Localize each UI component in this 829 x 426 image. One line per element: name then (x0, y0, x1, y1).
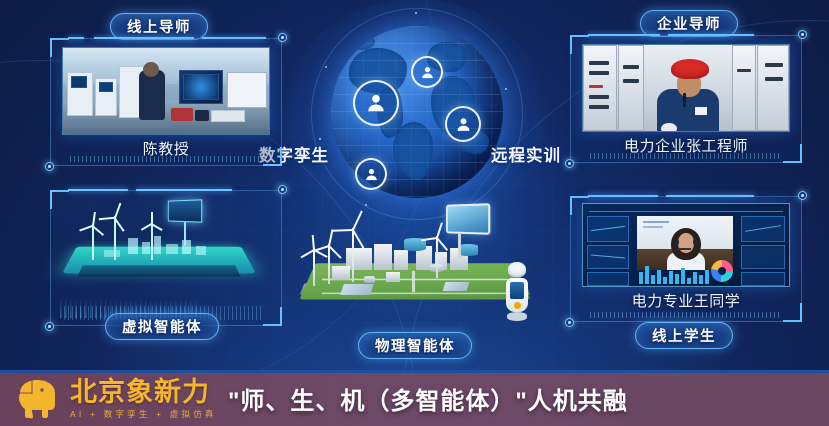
badge-physical-agent[interactable]: 物理智能体 (358, 332, 472, 359)
brand-text: 北京象新力 AI + 数字孪生 + 虚拟仿真 (70, 378, 217, 420)
frame-node-dot (278, 185, 287, 194)
frame-tick-mid (666, 195, 754, 197)
model-wind-turbine (340, 216, 366, 282)
model-building (386, 272, 400, 282)
donut-chart (711, 260, 733, 282)
badge-virtual-agent[interactable]: 虚拟智能体 (105, 313, 219, 340)
frame-tick-left (68, 189, 128, 191)
frame-tick-left (68, 37, 84, 39)
photo-switchgear-engineer (582, 44, 790, 132)
caption-professor-chen: 陈教授 (50, 138, 282, 159)
frame-tick-mid (668, 34, 754, 36)
caption-engineer-zhang: 电力企业张工程师 (570, 135, 802, 156)
elephant-icon (14, 377, 66, 421)
hologram-unit (166, 244, 178, 254)
globe-avatar-1[interactable] (353, 80, 399, 126)
badge-online-student[interactable]: 线上学生 (635, 322, 733, 349)
globe-avatar-4[interactable] (355, 158, 387, 190)
frame-node-dot (798, 30, 807, 39)
hologram-unit (128, 238, 138, 254)
badge-enterprise-mentor[interactable]: 企业导师 (640, 10, 738, 37)
person-icon (364, 167, 379, 182)
frame-node-dot (565, 159, 574, 168)
model-building (394, 250, 408, 270)
frame-tick-left (588, 34, 660, 36)
model-wind-turbine (426, 226, 448, 278)
badge-online-mentor[interactable]: 线上导师 (110, 13, 208, 40)
person-icon (420, 65, 435, 80)
hologram-turbine (84, 216, 102, 260)
hologram-unit (196, 246, 206, 255)
label-remote-training: 远程实训 (491, 142, 561, 166)
hologram-unit (154, 236, 161, 254)
card-virtual-agent[interactable] (50, 190, 282, 326)
person-icon (365, 92, 387, 114)
model-road (412, 271, 415, 292)
frame-node-dot (798, 191, 807, 200)
brand-name: 北京象新力 (70, 378, 217, 406)
frame-node-dot (565, 318, 574, 327)
model-solar-panel (443, 282, 470, 291)
physical-agent-model (292, 200, 552, 340)
frame-tick-left (588, 195, 658, 197)
card-online-mentor[interactable]: 陈教授 (50, 38, 282, 166)
footer-banner: 北京象新力 AI + 数字孪生 + 虚拟仿真 "师、生、机（多智能体）"人机共融 (0, 370, 829, 426)
hologram-screen-pole (184, 218, 186, 246)
globe-avatar-2[interactable] (411, 56, 443, 88)
hologram-unit (142, 242, 150, 254)
frame-node-dot (45, 162, 54, 171)
person-icon (455, 116, 472, 133)
service-robot (504, 262, 530, 326)
frame-tick-right (202, 37, 266, 39)
caption-student-wang: 电力专业王同学 (570, 290, 802, 311)
model-tank (458, 244, 478, 256)
footer-slogan: "师、生、机（多智能体）"人机共融 (228, 370, 628, 426)
scene-stage: 数字孪生 远程实训 线上导师 (0, 0, 829, 426)
model-wind-turbine (304, 238, 324, 286)
model-building (374, 244, 392, 270)
photo-lab-professor (62, 47, 270, 135)
digital-twin-globe (305, 18, 525, 218)
hologram-unit (104, 250, 120, 257)
card-enterprise-mentor[interactable]: 电力企业张工程师 (570, 35, 802, 163)
frame-tick-mid (94, 37, 194, 39)
globe-avatar-3[interactable] (445, 106, 481, 142)
brand-logo[interactable]: 北京象新力 AI + 数字孪生 + 虚拟仿真 (14, 376, 217, 422)
frame-tick-mid (136, 189, 232, 191)
frame-node-dot (278, 33, 287, 42)
hologram-display-screen (168, 199, 202, 222)
brand-tagline: AI + 数字孪生 + 虚拟仿真 (70, 408, 217, 420)
photo-student-dashboard (582, 203, 790, 287)
model-solar-panel (340, 284, 374, 295)
frame-barcode (590, 312, 782, 318)
card-online-student[interactable]: 电力专业王同学 (570, 196, 802, 322)
hologram-platform-edge (77, 265, 241, 277)
frame-node-dot (45, 322, 54, 331)
hologram-digital-twin-model (58, 194, 274, 306)
